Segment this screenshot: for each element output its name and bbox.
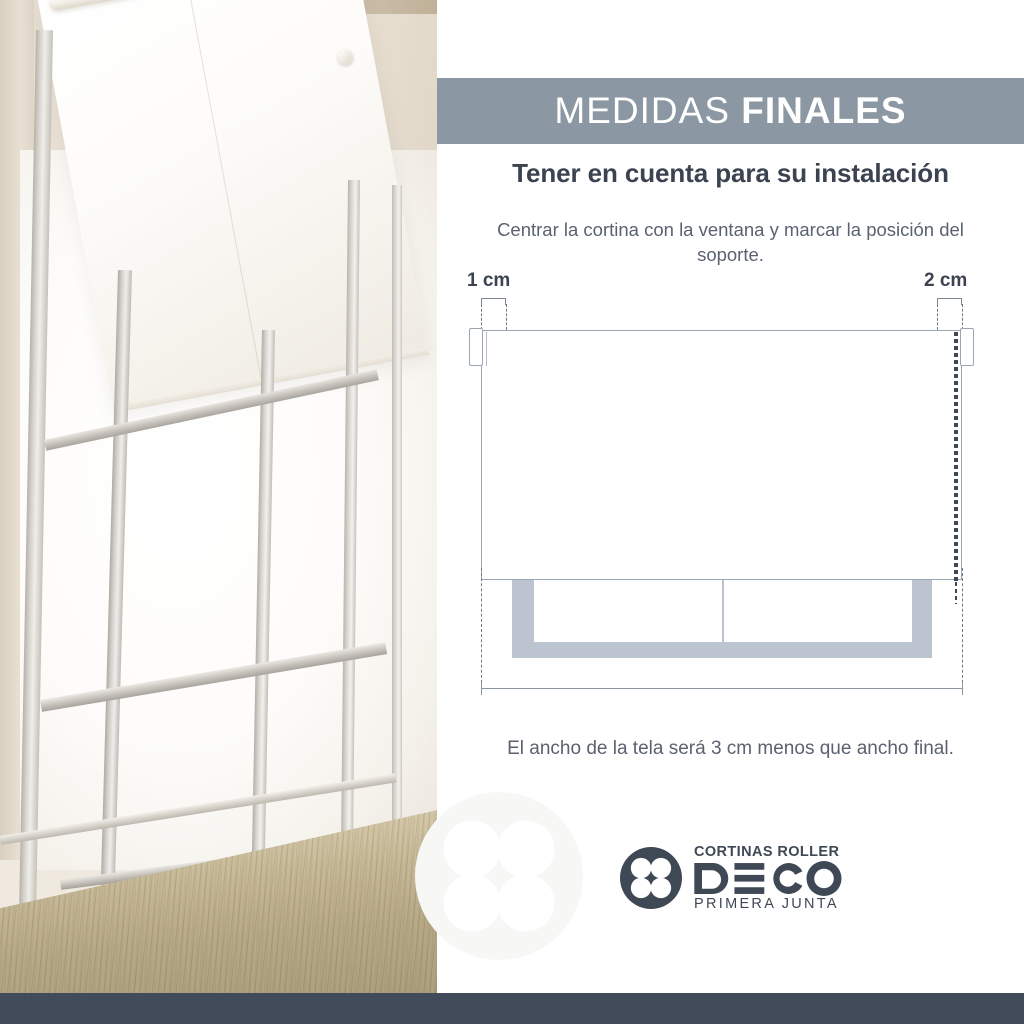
- content-panel: MEDIDAS FINALES Tener en cuenta para su …: [437, 0, 1024, 993]
- window-frame: [512, 580, 932, 658]
- brand-logo-text: CORTINAS ROLLER: [694, 845, 849, 911]
- brand-watermark-icon: [415, 792, 583, 960]
- footer-caption: El ancho de la tela será 3 cm menos que …: [457, 738, 1004, 760]
- extension-line-long-left: [481, 568, 482, 688]
- extension-line-c: [937, 304, 938, 330]
- left-margin-bracket: [481, 298, 506, 305]
- extension-line-d: [962, 304, 963, 330]
- page-subtitle: Tener en cuenta para su instalación: [437, 158, 1024, 189]
- installation-photo: [0, 0, 437, 993]
- right-mounting-bracket-icon: [960, 328, 974, 366]
- brand-tagline-top: CORTINAS ROLLER: [694, 845, 849, 860]
- page-title-light: MEDIDAS: [554, 90, 730, 131]
- extension-line-a: [481, 304, 482, 330]
- window-pane-left: [534, 580, 722, 642]
- brand-tagline-bottom: PRIMERA JUNTA: [694, 897, 849, 912]
- header-band: MEDIDAS FINALES: [437, 78, 1024, 144]
- measurement-diagram: 1 cm 2 cm: [437, 262, 1024, 732]
- left-margin-label: 1 cm: [467, 270, 510, 292]
- window-pane-right: [724, 580, 912, 642]
- left-bracket-inner-line: [486, 332, 487, 366]
- page-title: MEDIDAS FINALES: [554, 90, 906, 132]
- brand-wordmark: [694, 861, 849, 896]
- right-margin-bracket: [937, 298, 962, 305]
- dimension-tick-right: [962, 682, 963, 695]
- bead-chain-tail-icon: [955, 582, 957, 604]
- right-margin-label: 2 cm: [924, 270, 967, 292]
- extension-line-b: [506, 304, 507, 330]
- overall-width-dimension-line: [481, 688, 962, 689]
- brand-logo: CORTINAS ROLLER: [620, 841, 842, 915]
- curtain-fabric: [481, 330, 962, 580]
- photo-window-mullion-5: [392, 185, 402, 825]
- bead-chain-icon: [954, 332, 958, 582]
- dimension-tick-left: [481, 682, 482, 695]
- brand-wordmark-deco-icon: [694, 861, 849, 896]
- instruction-text: Centrar la cortina con la ventana y marc…: [477, 218, 984, 267]
- left-mounting-bracket-icon: [469, 328, 483, 366]
- photo-roller-end-cap: [338, 50, 353, 65]
- extension-line-long-right: [962, 568, 963, 688]
- bottom-bar: [0, 993, 1024, 1024]
- poster-canvas: MEDIDAS FINALES Tener en cuenta para su …: [0, 0, 1024, 1024]
- photo-blind-seam: [183, 0, 262, 385]
- page-title-bold: FINALES: [741, 90, 906, 131]
- brand-mark-icon: [620, 847, 682, 909]
